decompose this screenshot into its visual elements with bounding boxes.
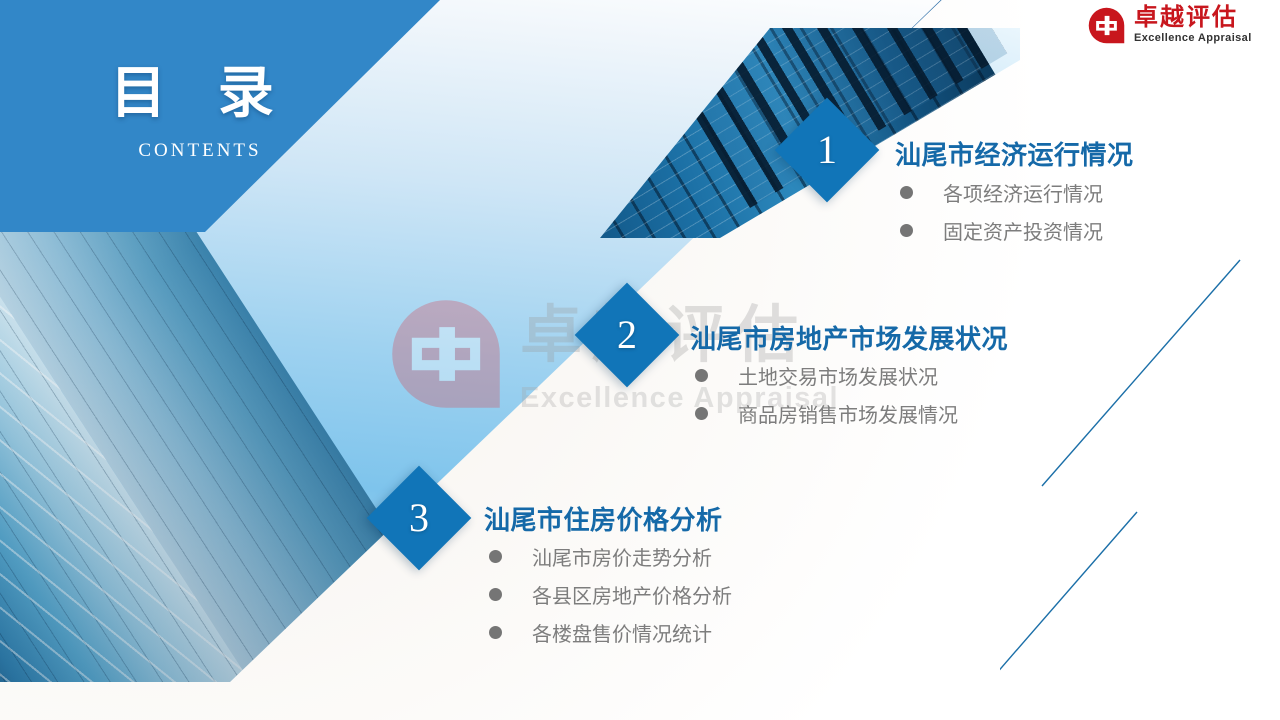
section-bullet-list: 各项经济运行情况 固定资产投资情况 — [900, 173, 1103, 249]
section-bullet-list: 土地交易市场发展状况 商品房销售市场发展情况 — [695, 356, 958, 432]
list-item-label: 各县区房地产价格分析 — [532, 580, 732, 609]
list-item[interactable]: 汕尾市房价走势分析 — [489, 537, 732, 575]
list-item[interactable]: 各楼盘售价情况统计 — [489, 613, 732, 651]
section-heading[interactable]: 汕尾市经济运行情况 — [895, 135, 1134, 172]
section-number-diamond[interactable]: 1 — [775, 98, 880, 203]
bullet-dot-icon — [489, 550, 502, 563]
list-item-label: 各楼盘售价情况统计 — [532, 618, 712, 647]
section-heading[interactable]: 汕尾市房地产市场发展状况 — [690, 319, 1008, 356]
section-number-diamond[interactable]: 2 — [575, 283, 680, 388]
bullet-dot-icon — [695, 407, 708, 420]
bullet-dot-icon — [489, 588, 502, 601]
list-item[interactable]: 各项经济运行情况 — [900, 173, 1103, 211]
bullet-dot-icon — [900, 224, 913, 237]
bullet-dot-icon — [489, 626, 502, 639]
section-bullet-list: 汕尾市房价走势分析 各县区房地产价格分析 各楼盘售价情况统计 — [489, 537, 732, 651]
list-item[interactable]: 各县区房地产价格分析 — [489, 575, 732, 613]
logo-name-en: Excellence Appraisal — [1134, 32, 1252, 44]
company-logo-icon — [1088, 7, 1125, 44]
page-subtitle: CONTENTS — [0, 140, 400, 162]
section-number: 1 — [790, 113, 864, 187]
page-title: 目 录 — [0, 66, 400, 122]
bullet-dot-icon — [695, 369, 708, 382]
slide-canvas: 目 录 CONTENTS 卓越评估 Excellence Appraisal 卓… — [0, 0, 1280, 720]
section-number: 3 — [382, 481, 456, 555]
list-item-label: 土地交易市场发展状况 — [738, 361, 938, 390]
decorative-diagonal-lines — [1000, 250, 1280, 720]
list-item-label: 汕尾市房价走势分析 — [532, 542, 712, 571]
list-item[interactable]: 固定资产投资情况 — [900, 211, 1103, 249]
logo-name-cn: 卓越评估 — [1134, 4, 1238, 30]
bullet-dot-icon — [900, 186, 913, 199]
list-item[interactable]: 土地交易市场发展状况 — [695, 356, 958, 394]
list-item-label: 固定资产投资情况 — [943, 216, 1103, 245]
list-item-label: 商品房销售市场发展情况 — [738, 399, 958, 428]
section-heading[interactable]: 汕尾市住房价格分析 — [484, 500, 723, 537]
list-item-label: 各项经济运行情况 — [943, 178, 1103, 207]
brand-logo: 卓越评估 Excellence Appraisal — [1088, 4, 1268, 48]
section-number-diamond[interactable]: 3 — [367, 466, 472, 571]
list-item[interactable]: 商品房销售市场发展情况 — [695, 394, 958, 432]
section-number: 2 — [590, 298, 664, 372]
